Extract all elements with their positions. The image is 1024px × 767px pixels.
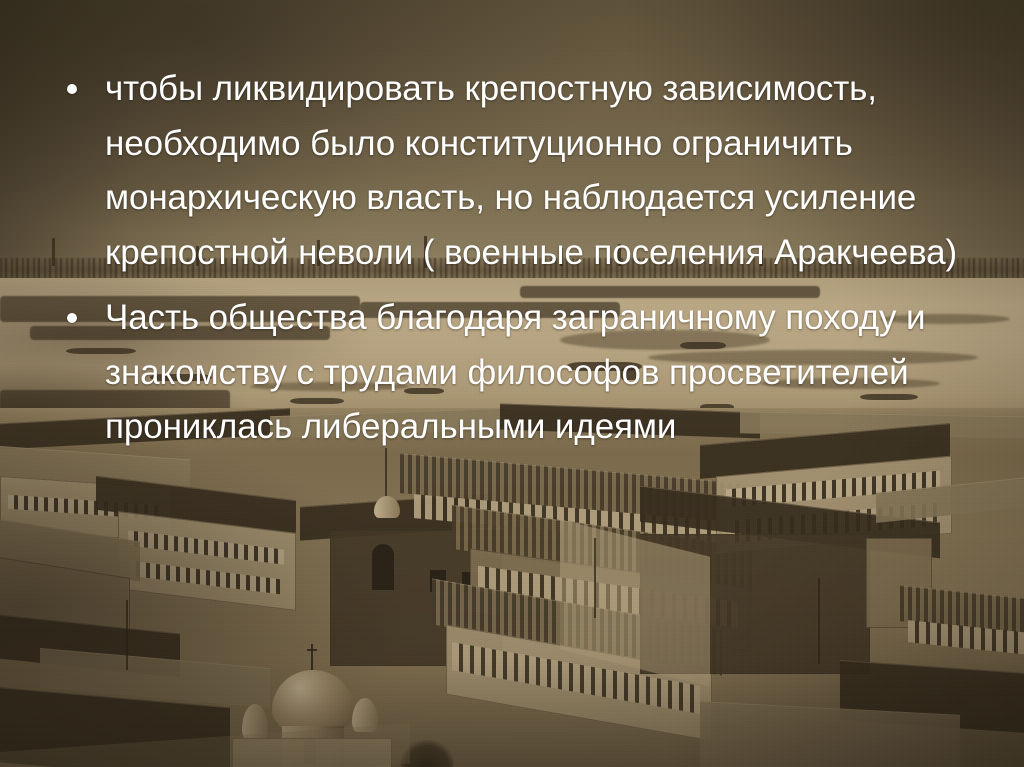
bullet-dot-icon [67, 313, 77, 323]
list-item: Часть общества благодаря заграничному по… [60, 291, 980, 455]
presentation-slide: чтобы ликвидировать крепостную зависимос… [0, 0, 1024, 767]
bullet-text: Часть общества благодаря заграничному по… [105, 291, 980, 455]
slide-content: чтобы ликвидировать крепостную зависимос… [0, 0, 1024, 767]
bullet-text: чтобы ликвидировать крепостную зависимос… [105, 62, 980, 280]
bullet-dot-icon [67, 84, 77, 94]
list-item: чтобы ликвидировать крепостную зависимос… [60, 62, 980, 280]
bullet-list: чтобы ликвидировать крепостную зависимос… [60, 62, 980, 455]
